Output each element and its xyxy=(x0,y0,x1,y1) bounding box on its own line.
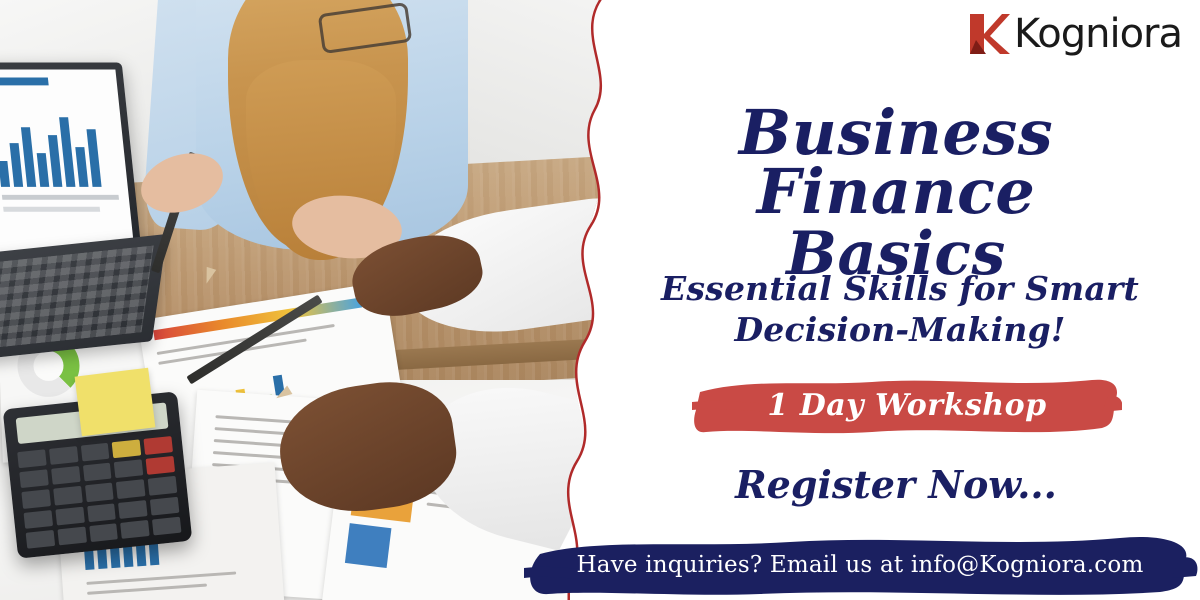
laptop-icon xyxy=(0,63,143,267)
cta-register[interactable]: Register Now... xyxy=(600,462,1192,507)
page-title: Business Finance Basics xyxy=(600,104,1192,283)
workshop-badge-label: 1 Day Workshop xyxy=(692,372,1122,438)
hero-photo xyxy=(0,0,620,600)
screen-header xyxy=(0,77,49,85)
k-logo-icon xyxy=(966,10,1012,58)
subtitle-line-1: Essential Skills for Smart xyxy=(661,269,1139,308)
laptop-keyboard xyxy=(0,234,167,361)
sticky-note xyxy=(75,368,156,437)
subtitle: Essential Skills for Smart Decision-Maki… xyxy=(610,268,1190,351)
title-line-1: Business Finance xyxy=(739,96,1053,228)
brand-logo[interactable]: Kogniora xyxy=(966,10,1182,58)
laptop-screen-content xyxy=(0,70,135,257)
keyboard-keys xyxy=(0,245,154,349)
bar-chart-icon xyxy=(0,115,102,187)
screen-divider xyxy=(2,195,119,200)
subtitle-line-2: Decision-Making! xyxy=(734,310,1065,349)
brand-name: Kogniora xyxy=(1014,14,1182,54)
screen-divider xyxy=(3,207,100,212)
event-banner: Kogniora Business Finance Basics Essenti… xyxy=(0,0,1200,600)
content-panel: Kogniora Business Finance Basics Essenti… xyxy=(600,0,1200,600)
footer-contact: Have inquiries? Email us at info@Kognior… xyxy=(540,552,1180,578)
